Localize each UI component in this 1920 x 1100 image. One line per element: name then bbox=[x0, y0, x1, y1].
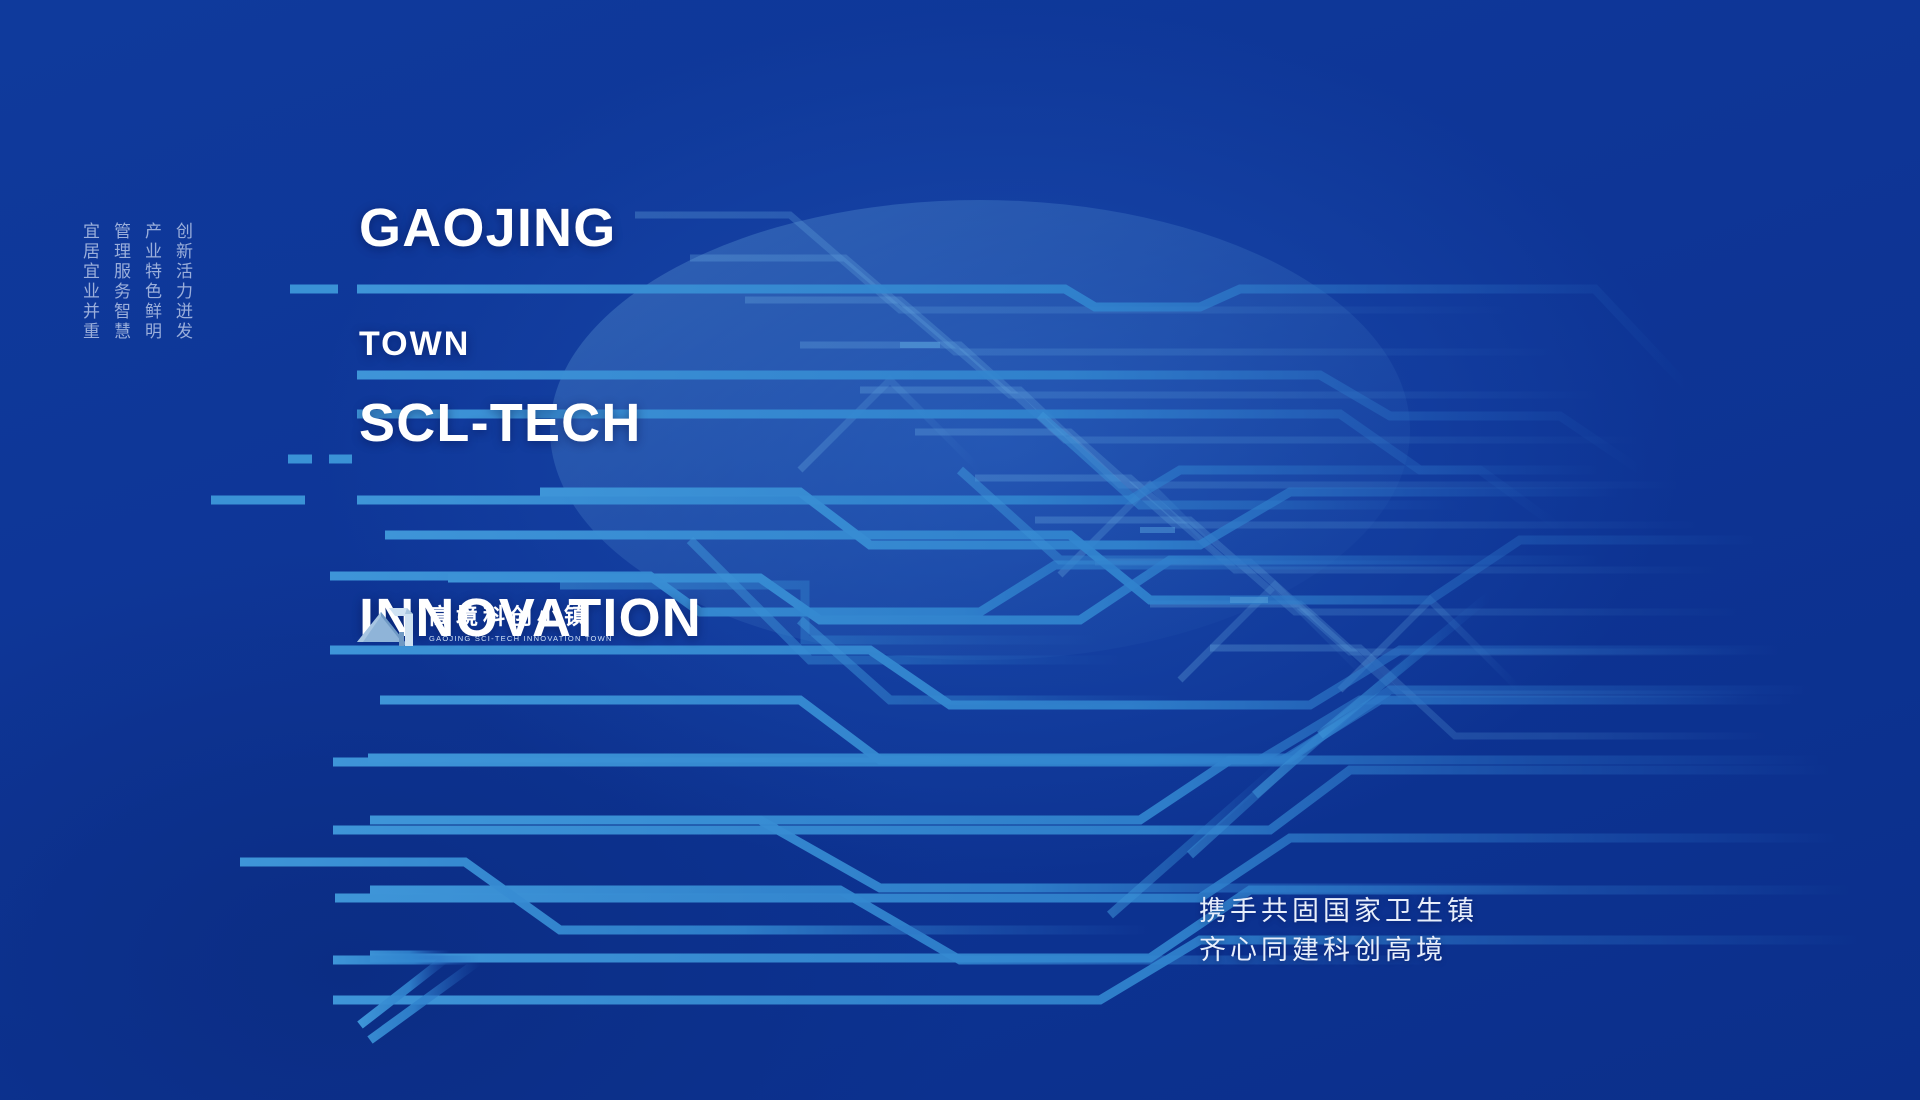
logo-lockup: 高境科创小镇 GAOJING SCI-TECH INNOVATION TOWN bbox=[355, 602, 613, 648]
page-title: GAOJING SCL-TECH INNOVATION bbox=[359, 66, 702, 781]
slogan-block: 携手共固国家卫生镇 齐心同建科创高境 bbox=[1199, 892, 1478, 970]
headline-line-4: TOWN bbox=[359, 325, 470, 364]
circuit-pattern-background bbox=[0, 0, 1920, 1100]
house-roof-icon bbox=[355, 602, 417, 648]
headline-line-2: SCL-TECH bbox=[359, 391, 702, 456]
headline-line-1: GAOJING bbox=[359, 196, 702, 261]
logo-english-name: GAOJING SCI-TECH INNOVATION TOWN bbox=[429, 633, 613, 645]
logo-text-block: 高境科创小镇 GAOJING SCI-TECH INNOVATION TOWN bbox=[429, 605, 613, 645]
vertical-tagline-col-4: 宜居宜业并重 bbox=[78, 222, 100, 342]
vertical-tagline-col-1: 创新活力迸发 bbox=[171, 222, 193, 342]
logo-chinese-name: 高境科创小镇 bbox=[429, 605, 613, 631]
poster-canvas: 创新活力迸发 产业特色鲜明 管理服务智慧 宜居宜业并重 GAOJING SCL-… bbox=[0, 0, 1920, 1100]
slogan-line-1: 携手共固国家卫生镇 bbox=[1199, 892, 1478, 931]
vertical-tagline-col-3: 管理服务智慧 bbox=[109, 222, 131, 342]
vertical-tagline-block: 创新活力迸发 产业特色鲜明 管理服务智慧 宜居宜业并重 bbox=[78, 222, 193, 342]
vertical-tagline-col-2: 产业特色鲜明 bbox=[140, 222, 162, 342]
slogan-line-2: 齐心同建科创高境 bbox=[1199, 931, 1478, 970]
